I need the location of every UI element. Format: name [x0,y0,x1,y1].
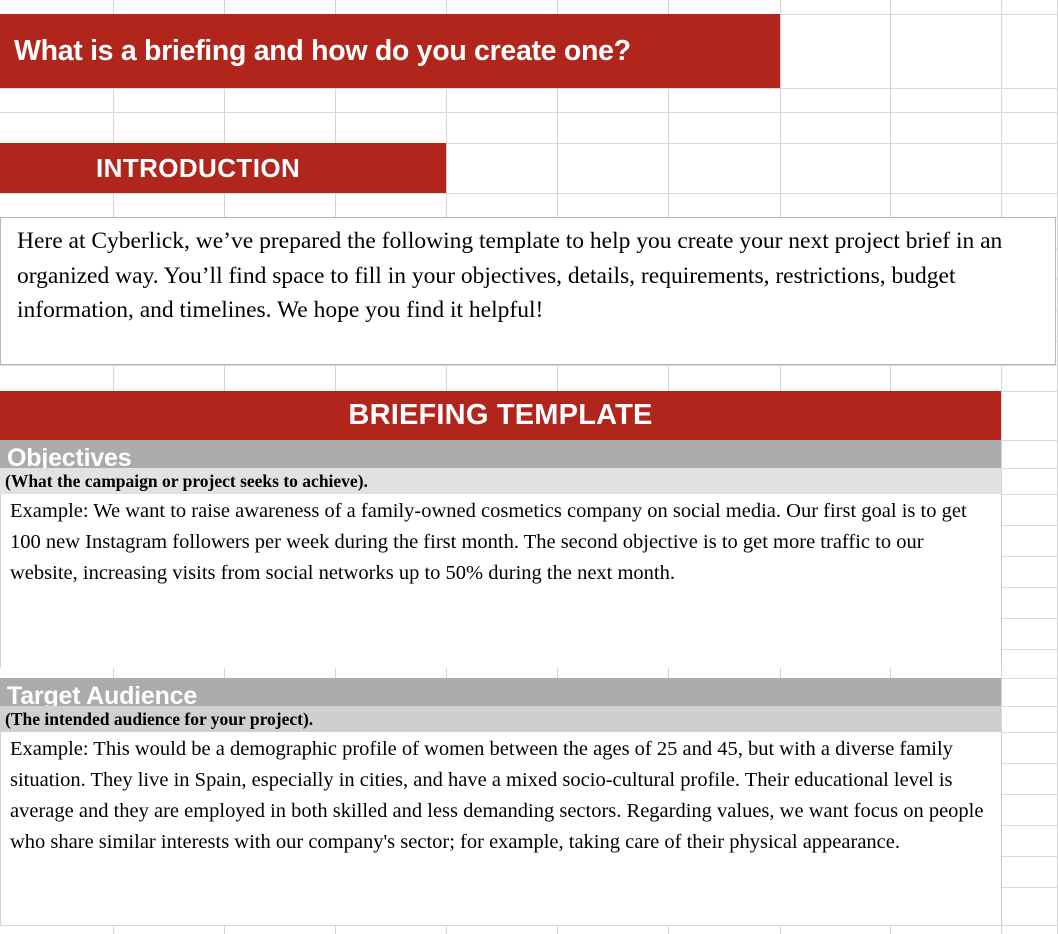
section-header-objectives-label: Objectives [7,446,131,468]
briefing-template-label: BRIEFING TEMPLATE [348,401,652,430]
grid-row-line [0,925,1058,926]
grid-row-line [0,112,1058,113]
grid-row-line [0,193,1058,194]
section-header-target-audience-label: Target Audience [7,684,197,706]
document-title-banner[interactable]: What is a briefing and how do you create… [0,14,780,88]
section-body-target-audience-text: Example: This would be a demographic pro… [10,734,989,858]
section-body-objectives[interactable]: Example: We want to raise awareness of a… [0,494,1002,668]
introduction-label: INTRODUCTION [96,155,300,181]
spreadsheet-canvas[interactable]: What is a briefing and how do you create… [0,0,1058,934]
section-body-target-audience[interactable]: Example: This would be a demographic pro… [0,732,1002,925]
section-subheader-target-audience-label: (The intended audience for your project)… [5,709,313,729]
introduction-banner[interactable]: INTRODUCTION [0,143,446,193]
section-subheader-objectives-label: (What the campaign or project seeks to a… [5,471,368,491]
section-header-target-audience[interactable]: Target Audience [0,678,1001,706]
introduction-paragraph-text: Here at Cyberlick, we’ve prepared the fo… [17,224,1045,328]
section-body-objectives-text: Example: We want to raise awareness of a… [10,496,989,589]
introduction-paragraph-box[interactable]: Here at Cyberlick, we’ve prepared the fo… [0,217,1056,365]
grid-row-line [0,88,1058,89]
grid-row-line [0,365,1058,366]
section-header-objectives[interactable]: Objectives [0,440,1001,468]
section-subheader-objectives[interactable]: (What the campaign or project seeks to a… [0,468,1001,494]
briefing-template-banner[interactable]: BRIEFING TEMPLATE [0,391,1001,440]
page-title: What is a briefing and how do you create… [14,37,631,66]
section-subheader-target-audience[interactable]: (The intended audience for your project)… [0,706,1001,732]
